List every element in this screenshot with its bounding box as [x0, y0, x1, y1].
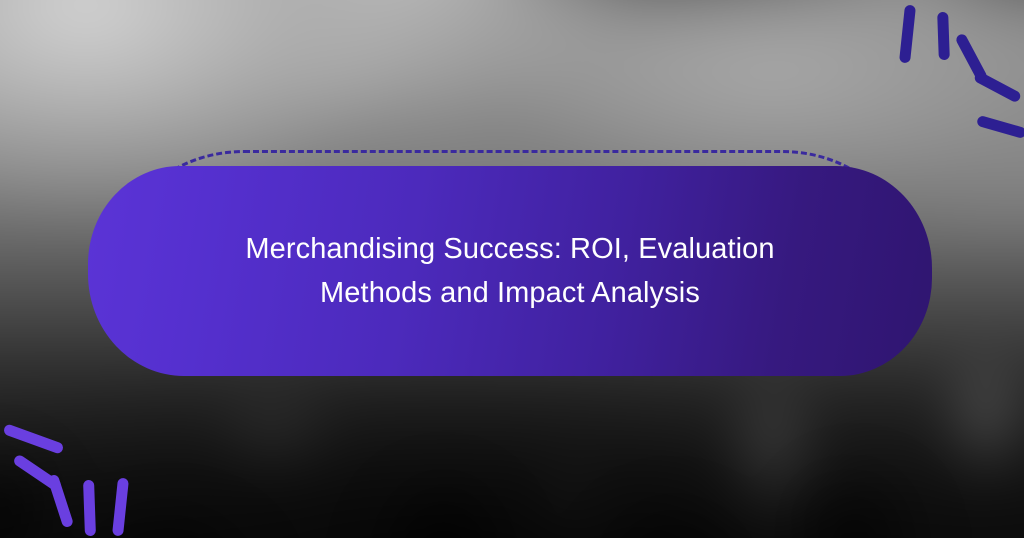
page-title: Merchandising Success: ROI, Evaluation M… — [210, 227, 810, 315]
title-card: Merchandising Success: ROI, Evaluation M… — [88, 166, 932, 376]
page-title-text: Merchandising Success: ROI, Evaluation M… — [245, 233, 774, 309]
banner-stage: Merchandising Success: ROI, Evaluation M… — [0, 0, 1024, 538]
